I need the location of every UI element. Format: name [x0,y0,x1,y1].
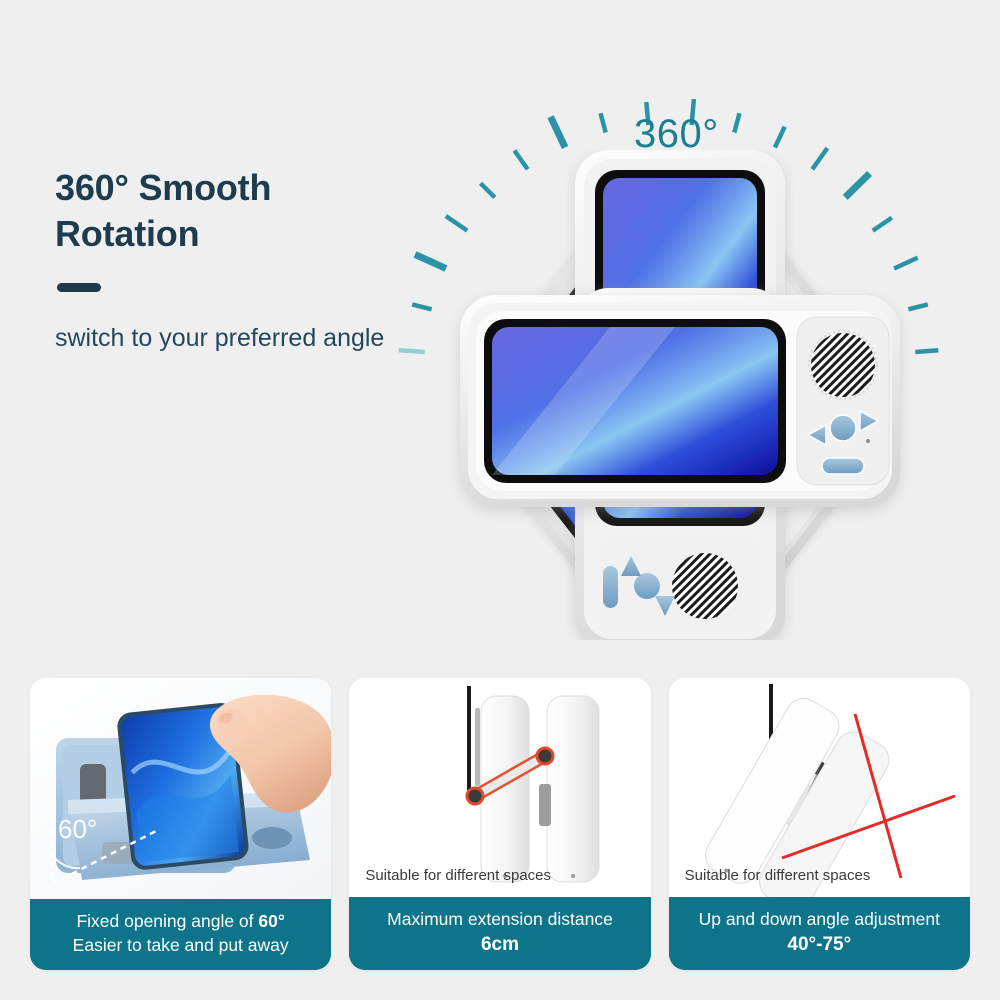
page-title: 360° Smooth Rotation [55,165,425,257]
svg-text:60°: 60° [58,814,97,844]
feature-cards: 60° Fixed opening angle of 60° Easier to… [0,678,1000,970]
footer-line-2: 6cm [357,932,642,957]
footer-line-2: Easier to take and put away [38,934,323,957]
hero-section: 360° [0,0,1000,670]
footer-line-1: Up and down angle adjustment [677,908,962,931]
feature-card-angle-adjustment: Suitable for different spaces Up and dow… [669,678,970,970]
card-note-extension: Suitable for different spaces [365,866,551,885]
card-image-fixed-angle: 60° [30,678,331,899]
card-image-angle-adjustment: Suitable for different spaces [669,678,970,897]
product-illustration [415,150,935,640]
card-footer-fixed-angle: Fixed opening angle of 60° Easier to tak… [30,899,331,970]
hero-text-block: 360° Smooth Rotation switch to your pref… [55,165,425,355]
footer-line-1: Maximum extension distance [357,908,642,931]
title-divider [57,283,101,292]
headline-line-1: 360° Smooth [55,165,425,211]
card-image-extension-distance: Suitable for different spaces [349,678,650,897]
footer-line-2: 40°-75° [677,932,962,957]
product-feature-page: 360° [0,0,1000,1000]
footer-line-1: Fixed opening angle of 60° [38,910,323,933]
feature-card-fixed-angle: 60° Fixed opening angle of 60° Easier to… [30,678,331,970]
card-note-angle: Suitable for different spaces [685,866,871,885]
card-footer-extension-distance: Maximum extension distance 6cm [349,897,650,970]
card-footer-angle-adjustment: Up and down angle adjustment 40°-75° [669,897,970,970]
feature-card-extension-distance: Suitable for different spaces Maximum ex… [349,678,650,970]
headline-line-2: Rotation [55,211,425,257]
hero-subtitle: switch to your preferred angle [55,322,425,355]
